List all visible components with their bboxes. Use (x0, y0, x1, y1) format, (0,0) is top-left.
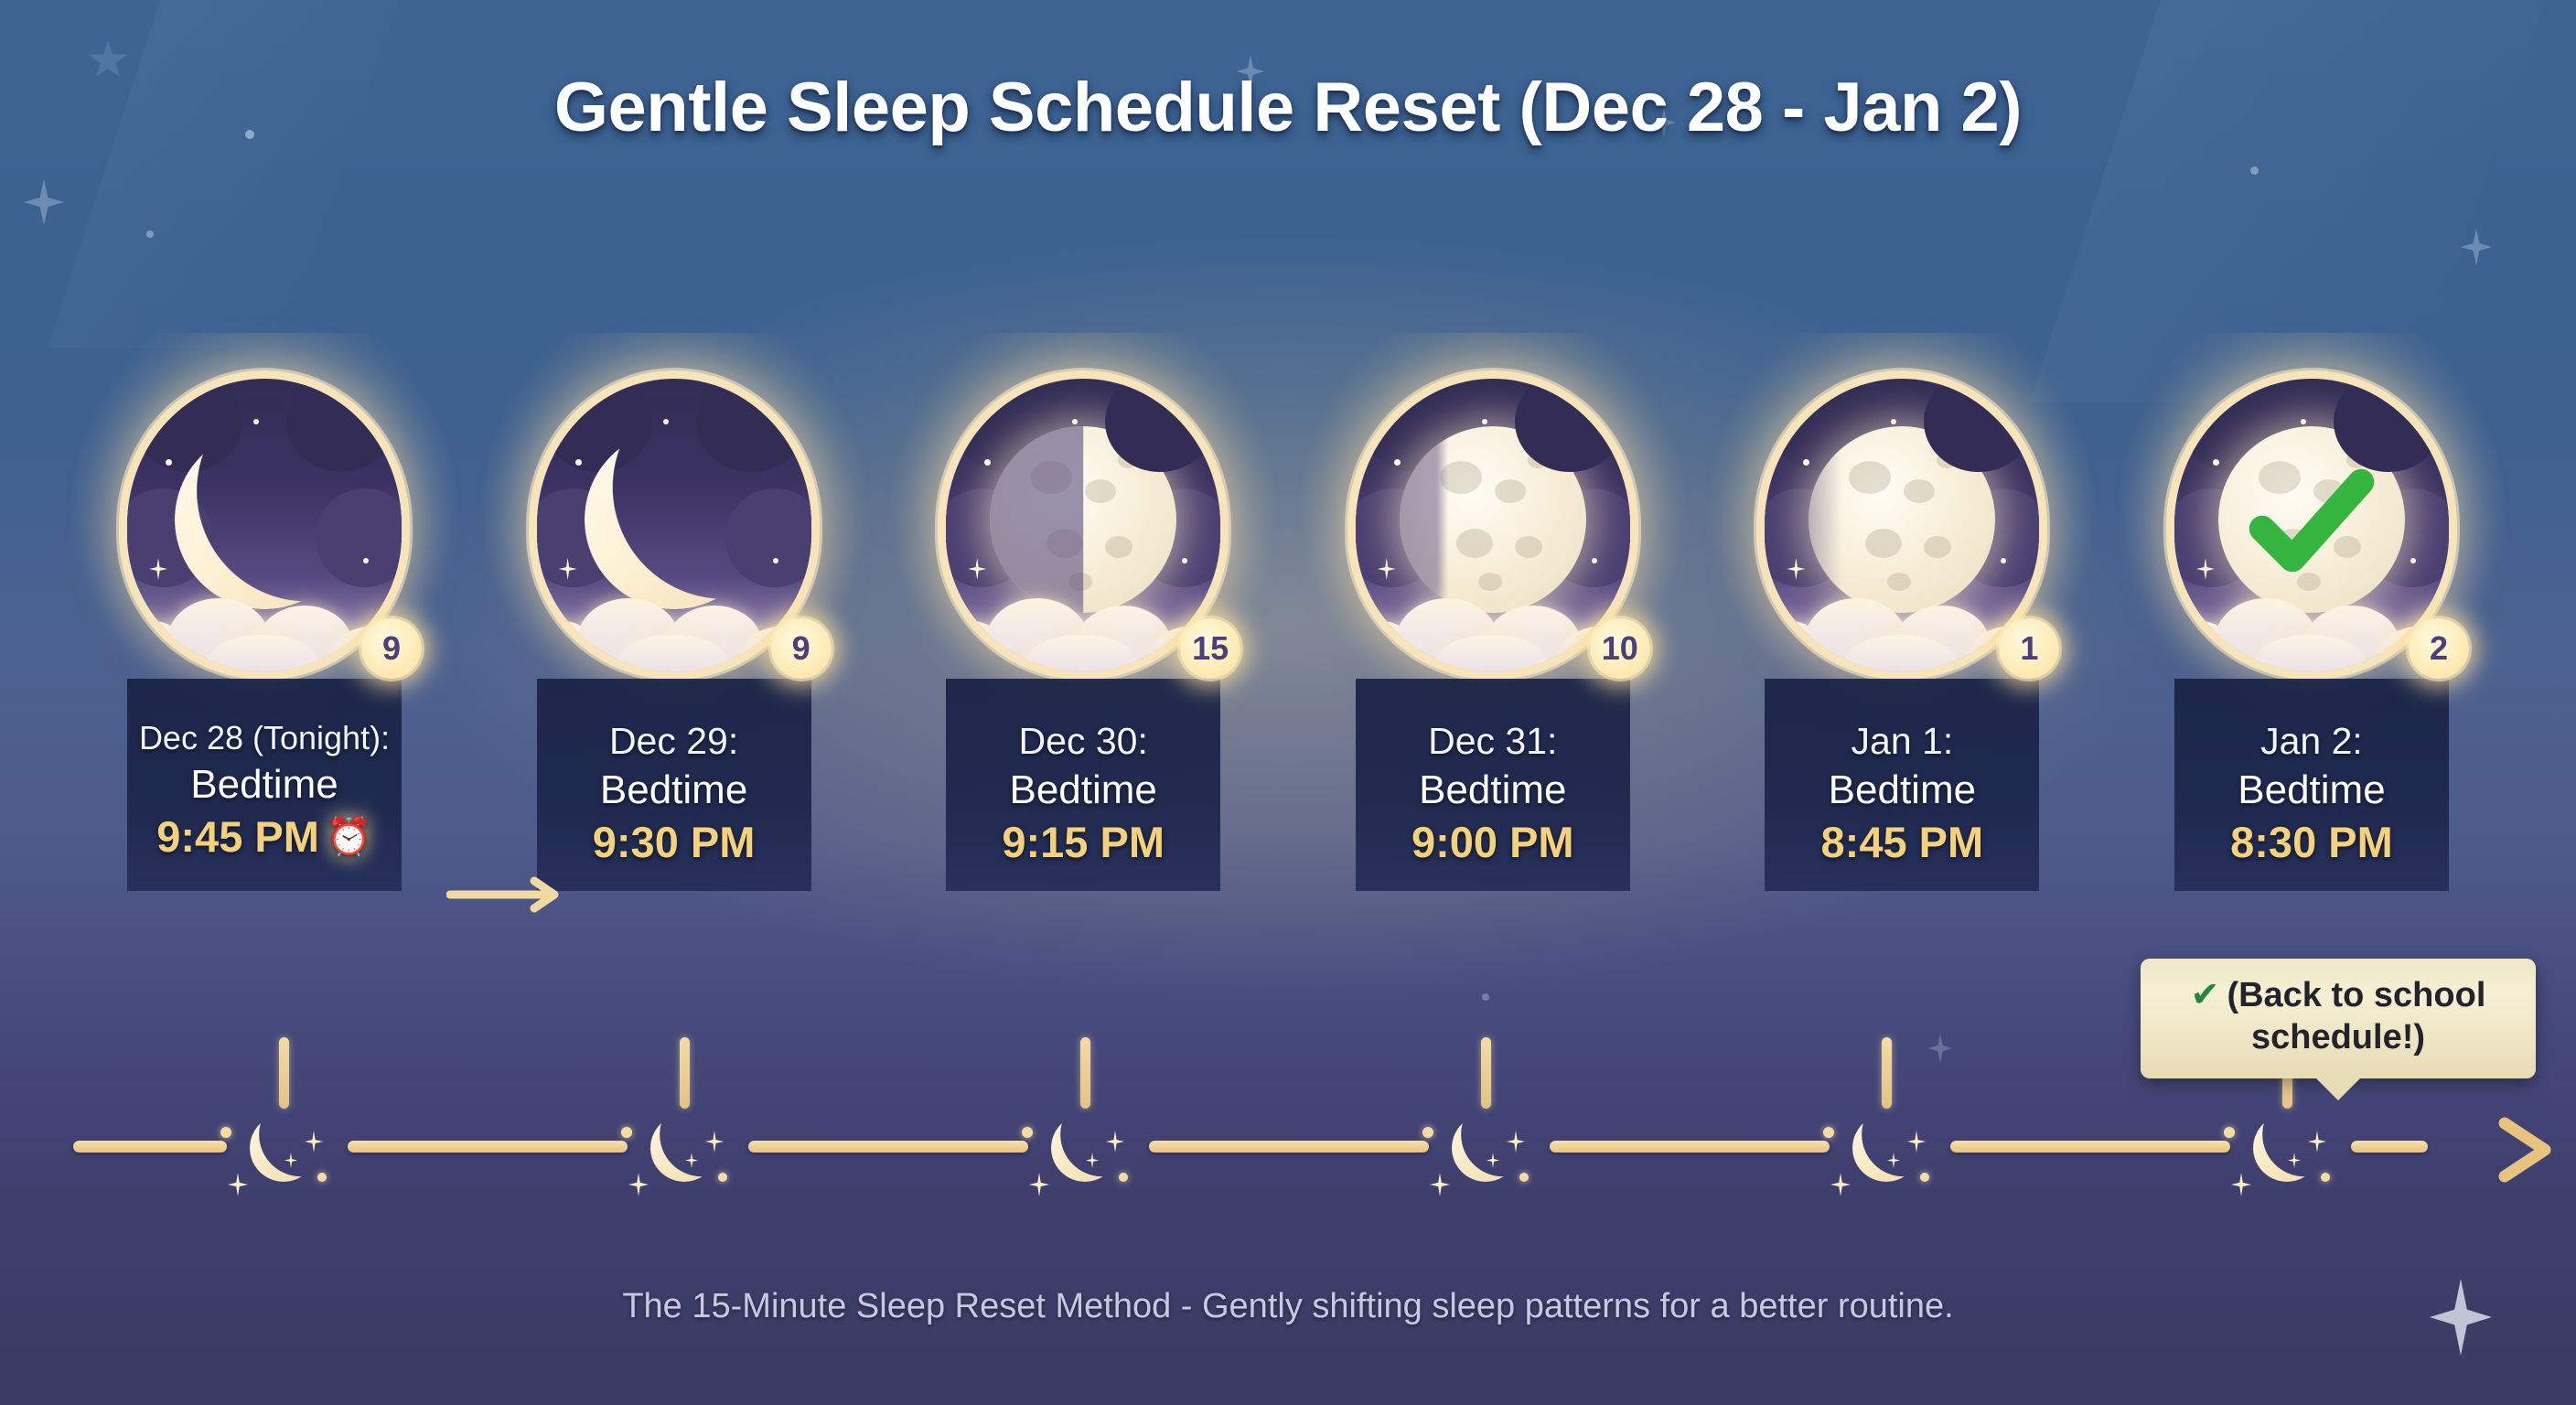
card-bedtime-label: Bedtime (190, 763, 338, 807)
timeline-stem (1882, 1037, 1892, 1109)
badge-count: 10 (1590, 618, 1650, 679)
card-bedtime-text: 8:45 PM (1821, 819, 1984, 866)
star-dot-icon (1891, 419, 1896, 424)
timeline-segment (348, 1141, 628, 1153)
card-bedtime-value: 9:45 PM⏰ (156, 813, 371, 861)
badge-inner (1765, 379, 2039, 671)
sparkle-icon (559, 558, 577, 580)
moon-graphic (2217, 425, 2406, 614)
page-title: Gentle Sleep Schedule Reset (Dec 28 - Ja… (0, 68, 2576, 147)
star-dot-icon (663, 419, 669, 424)
star-dot-icon (1482, 993, 1489, 1001)
badge-inner (1356, 379, 1630, 671)
badge-inner (537, 379, 811, 671)
sparkle-icon (1378, 558, 1396, 580)
schedule-cards: 9Dec 28 (Tonight):Bedtime9:45 PM⏰9Dec 29… (82, 366, 2494, 988)
star-icon (2461, 229, 2492, 265)
timeline-segment (2351, 1141, 2428, 1153)
crescent-moon-icon (2253, 1114, 2321, 1182)
timeline-segment (73, 1141, 227, 1153)
sparkle-icon (1153, 435, 1180, 467)
timeline-node (1446, 1110, 1525, 1189)
star-dot-icon (2001, 558, 2006, 563)
crescent-moon-icon (650, 1114, 718, 1182)
moon-badge (2174, 379, 2449, 671)
timeline-pip (2224, 1127, 2235, 1138)
sparkle-icon (744, 435, 771, 467)
crescent-moon-icon (250, 1114, 317, 1182)
card-panel: Dec 29:Bedtime9:30 PM (537, 679, 811, 891)
moon-graphic (580, 425, 768, 614)
sparkle-icon (1830, 1173, 1851, 1196)
timeline-pip (1823, 1127, 1834, 1138)
sparkle-icon (1029, 1173, 1049, 1196)
alarm-clock-icon: ⏰ (327, 817, 372, 857)
tooltip-label: (Back to school schedule!) (2227, 976, 2485, 1056)
star-dot-icon (773, 558, 778, 563)
green-check-icon (2243, 455, 2380, 592)
timeline-pip (718, 1173, 727, 1182)
timeline-pip (1920, 1173, 1929, 1182)
sparkle-icon (628, 1173, 649, 1196)
badge-count: 15 (1180, 618, 1240, 679)
background-streak (2030, 0, 2562, 402)
timeline-pip (1422, 1127, 1433, 1138)
sparkle-icon (2231, 1173, 2251, 1196)
schedule-card: 15Dec 30:Bedtime9:15 PM (901, 366, 1265, 988)
card-date: Dec 31: (1428, 719, 1557, 763)
card-bedtime-label: Bedtime (600, 768, 747, 812)
tooltip-text: ✔(Back to school schedule!) (2161, 975, 2516, 1058)
moon-graphic (989, 425, 1177, 614)
sparkle-icon (2381, 435, 2409, 467)
timeline-segment (1950, 1141, 2230, 1153)
star-dot-icon (1592, 558, 1597, 563)
crescent-moon-icon (585, 430, 764, 609)
schedule-card: 2Jan 2:Bedtime8:30 PM (2130, 366, 2494, 988)
sparkle-icon (2196, 558, 2215, 580)
sparkle-icon (1971, 435, 1999, 467)
timeline-node (1847, 1110, 1926, 1189)
star-dot-icon (2410, 558, 2416, 563)
schedule-card: 9Dec 28 (Tonight):Bedtime9:45 PM⏰ (82, 366, 446, 988)
badge-wrap: 2 (2147, 366, 2476, 684)
card-date: Jan 2: (2260, 719, 2363, 763)
card-panel: Dec 31:Bedtime9:00 PM (1356, 679, 1630, 891)
card-date: Dec 30: (1019, 719, 1148, 763)
card-panel: Jan 2:Bedtime8:30 PM (2174, 679, 2449, 891)
moon-terminator (1400, 426, 1586, 613)
moon-graphic (1808, 425, 1996, 614)
moon-badge (1765, 379, 2039, 671)
timeline-pip (2321, 1173, 2330, 1182)
moon-badge (946, 379, 1220, 671)
moon-terminator (990, 426, 1176, 613)
card-bedtime-text: 9:30 PM (593, 819, 756, 866)
timeline-segment (1149, 1141, 1429, 1153)
badge-count: 9 (771, 618, 832, 679)
badge-wrap: 15 (918, 366, 1248, 684)
badge-wrap: 10 (1328, 366, 1658, 684)
moon-graphic (170, 425, 359, 614)
card-bedtime-label: Bedtime (1419, 768, 1566, 812)
moon-badge (127, 379, 402, 671)
background-streak (48, 0, 410, 348)
timeline-stem (680, 1037, 690, 1109)
timeline-pip (317, 1173, 327, 1182)
card-bedtime-label: Bedtime (1009, 768, 1156, 812)
sparkle-icon (968, 558, 986, 580)
moon-badge (537, 379, 811, 671)
moon-graphic (1399, 425, 1587, 614)
badge-count: 2 (2409, 618, 2469, 679)
badge-wrap: 9 (100, 366, 429, 684)
full-moon-icon (990, 426, 1176, 613)
schedule-card: 1Jan 1:Bedtime8:45 PM (1720, 366, 2084, 988)
star-dot-icon (1072, 419, 1078, 424)
timeline-pip (1519, 1173, 1529, 1182)
card-bedtime-text: 9:15 PM (1002, 819, 1165, 866)
timeline-node (1046, 1110, 1124, 1189)
sparkle-icon (1787, 558, 1805, 580)
badge-inner (2174, 379, 2449, 671)
badge-inner (946, 379, 1220, 671)
full-moon-icon (1809, 426, 1995, 613)
timeline-pip (220, 1127, 231, 1138)
back-to-school-tooltip: ✔(Back to school schedule!) (2141, 959, 2536, 1078)
star-dot-icon (2250, 166, 2259, 175)
star-icon (24, 179, 64, 225)
schedule-card: 10Dec 31:Bedtime9:00 PM (1311, 366, 1675, 988)
timeline-node (645, 1110, 724, 1189)
sparkle-icon (228, 1173, 248, 1196)
timeline (0, 1061, 2576, 1244)
card-panel: Dec 30:Bedtime9:15 PM (946, 679, 1220, 891)
timeline-stem (1481, 1037, 1491, 1109)
crescent-moon-icon (1051, 1114, 1119, 1182)
moon-terminator (1809, 426, 1995, 613)
timeline-stem (279, 1037, 289, 1109)
star-dot-icon (146, 231, 154, 238)
card-date: Dec 29: (609, 719, 738, 763)
timeline-segment (1550, 1141, 1830, 1153)
timeline-node (2248, 1110, 2326, 1189)
sparkle-icon (1562, 435, 1590, 467)
full-moon-icon (1400, 426, 1586, 613)
badge-wrap: 1 (1737, 366, 2066, 684)
moon-badge (1356, 379, 1630, 671)
card-panel: Jan 1:Bedtime8:45 PM (1765, 679, 2039, 891)
card-bedtime-value: 8:30 PM (2230, 819, 2393, 866)
card-date: Dec 28 (Tonight): (139, 719, 390, 757)
crescent-moon-icon (175, 430, 354, 609)
star-icon (1928, 1034, 1952, 1063)
card-bedtime-value: 9:30 PM (593, 819, 756, 866)
card-bedtime-value: 9:15 PM (1002, 819, 1165, 866)
star-dot-icon (2301, 419, 2306, 424)
timeline-pip (1119, 1173, 1128, 1182)
card-panel: Dec 28 (Tonight):Bedtime9:45 PM⏰ (127, 679, 402, 891)
star-dot-icon (1482, 419, 1487, 424)
timeline-pip (1022, 1127, 1033, 1138)
card-bedtime-value: 9:00 PM (1411, 819, 1574, 866)
sparkle-icon (334, 435, 361, 467)
sparkle-icon (1430, 1173, 1450, 1196)
star-dot-icon (253, 419, 259, 424)
sparkle-icon (149, 558, 167, 580)
crescent-moon-icon (1852, 1114, 1920, 1182)
timeline-stem (1080, 1037, 1090, 1109)
crescent-moon-icon (1452, 1114, 1519, 1182)
check-icon: ✔ (2191, 976, 2220, 1014)
arrow-right-icon (446, 874, 584, 915)
timeline-pip (621, 1127, 632, 1138)
card-bedtime-text: 9:00 PM (1411, 819, 1574, 866)
card-bedtime-label: Bedtime (1829, 768, 1976, 812)
badge-wrap: 9 (510, 366, 839, 684)
card-bedtime-label: Bedtime (2238, 768, 2385, 812)
badge-inner (127, 379, 402, 671)
star-dot-icon (363, 558, 369, 563)
badge-count: 1 (1999, 618, 2059, 679)
arrow-right-icon (2490, 1114, 2560, 1185)
card-bedtime-value: 8:45 PM (1821, 819, 1984, 866)
star-dot-icon (1182, 558, 1187, 563)
card-bedtime-text: 8:30 PM (2230, 819, 2393, 866)
timeline-node (244, 1110, 323, 1189)
badge-count: 9 (361, 618, 422, 679)
card-date: Jan 1: (1851, 719, 1954, 763)
footer-caption: The 15-Minute Sleep Reset Method - Gentl… (0, 1287, 2576, 1326)
timeline-segment (748, 1141, 1028, 1153)
card-bedtime-text: 9:45 PM (156, 813, 319, 861)
